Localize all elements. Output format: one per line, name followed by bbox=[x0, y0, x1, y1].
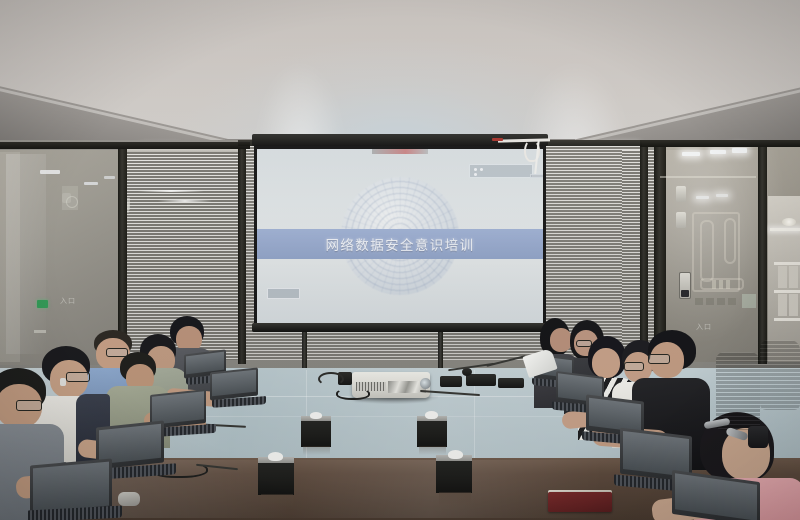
conference-room-photo: 入口 入口 bbox=[0, 0, 800, 520]
vignette bbox=[0, 0, 800, 520]
